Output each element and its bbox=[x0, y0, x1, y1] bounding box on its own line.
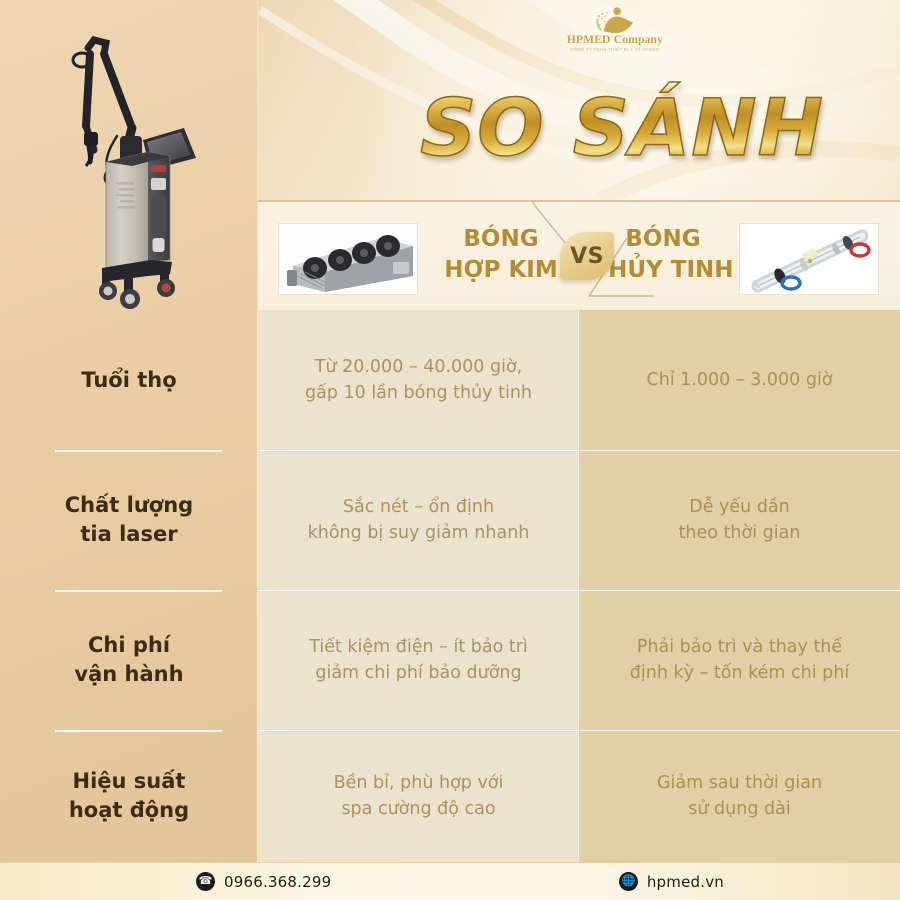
row-value-alloy: Bền bỉ, phù hợp với spa cường độ cao bbox=[258, 730, 579, 862]
brand-logo: HPMED Company CÔNG TY TNHH THIẾT BỊ Y TẾ… bbox=[560, 6, 670, 62]
brand-name: HPMED Company bbox=[567, 34, 663, 46]
row-label: Chất lượng tia laser bbox=[0, 450, 258, 590]
table-row: Chất lượng tia laser Sắc nét – ổn định k… bbox=[0, 450, 900, 590]
brand-tagline: CÔNG TY TNHH THIẾT BỊ Y TẾ HPMED bbox=[570, 47, 659, 52]
footer-website[interactable]: 🌐 hpmed.vn bbox=[619, 872, 724, 891]
header-cell-alloy: BÓNG HỢP KIM bbox=[258, 202, 579, 310]
vs-badge: VS bbox=[560, 232, 614, 280]
row-label: Tuổi thọ bbox=[0, 310, 258, 450]
poster-canvas: HPMED Company CÔNG TY TNHH THIẾT BỊ Y TẾ… bbox=[0, 0, 900, 900]
person-leaf-logo-icon bbox=[594, 6, 636, 36]
row-label: Chi phí vận hành bbox=[0, 590, 258, 730]
row-value-glass: Dễ yếu dần theo thời gian bbox=[579, 450, 900, 590]
globe-icon: 🌐 bbox=[619, 872, 638, 891]
header-label-alloy: BÓNG HỢP KIM bbox=[426, 224, 576, 286]
vs-badge-label: VS bbox=[570, 244, 604, 269]
comparison-table: Tuổi thọ Từ 20.000 – 40.000 giờ, gấp 10 … bbox=[0, 310, 900, 862]
row-value-glass: Chỉ 1.000 – 3.000 giờ bbox=[579, 310, 900, 450]
row-value-glass: Phải bảo trì và thay thế định kỳ – tốn k… bbox=[579, 590, 900, 730]
phone-icon: ☎ bbox=[196, 872, 215, 891]
table-row: Chi phí vận hành Tiết kiệm điện – ít bảo… bbox=[0, 590, 900, 730]
glass-tube-image bbox=[739, 223, 879, 295]
footer-phone-text: 0966.368.299 bbox=[224, 873, 331, 891]
row-value-alloy: Tiết kiệm điện – ít bảo trì giảm chi phí… bbox=[258, 590, 579, 730]
footer-phone[interactable]: ☎ 0966.368.299 bbox=[196, 872, 331, 891]
row-label: Hiệu suất hoạt động bbox=[0, 730, 258, 862]
alloy-tube-image bbox=[278, 223, 418, 295]
header-cell-glass: BÓNG THỦY TINH bbox=[579, 202, 900, 310]
row-value-alloy: Sắc nét – ổn định không bị suy giảm nhan… bbox=[258, 450, 579, 590]
page-title: SO SÁNH bbox=[402, 88, 842, 170]
footer-bar: ☎ 0966.368.299 🌐 hpmed.vn bbox=[0, 862, 900, 900]
table-row: Hiệu suất hoạt động Bền bỉ, phù hợp với … bbox=[0, 730, 900, 862]
footer-website-text: hpmed.vn bbox=[647, 873, 724, 891]
co2-laser-machine-image bbox=[20, 10, 250, 340]
row-value-glass: Giảm sau thời gian sử dụng dài bbox=[579, 730, 900, 862]
row-value-alloy: Từ 20.000 – 40.000 giờ, gấp 10 lần bóng … bbox=[258, 310, 579, 450]
table-row: Tuổi thọ Từ 20.000 – 40.000 giờ, gấp 10 … bbox=[0, 310, 900, 450]
